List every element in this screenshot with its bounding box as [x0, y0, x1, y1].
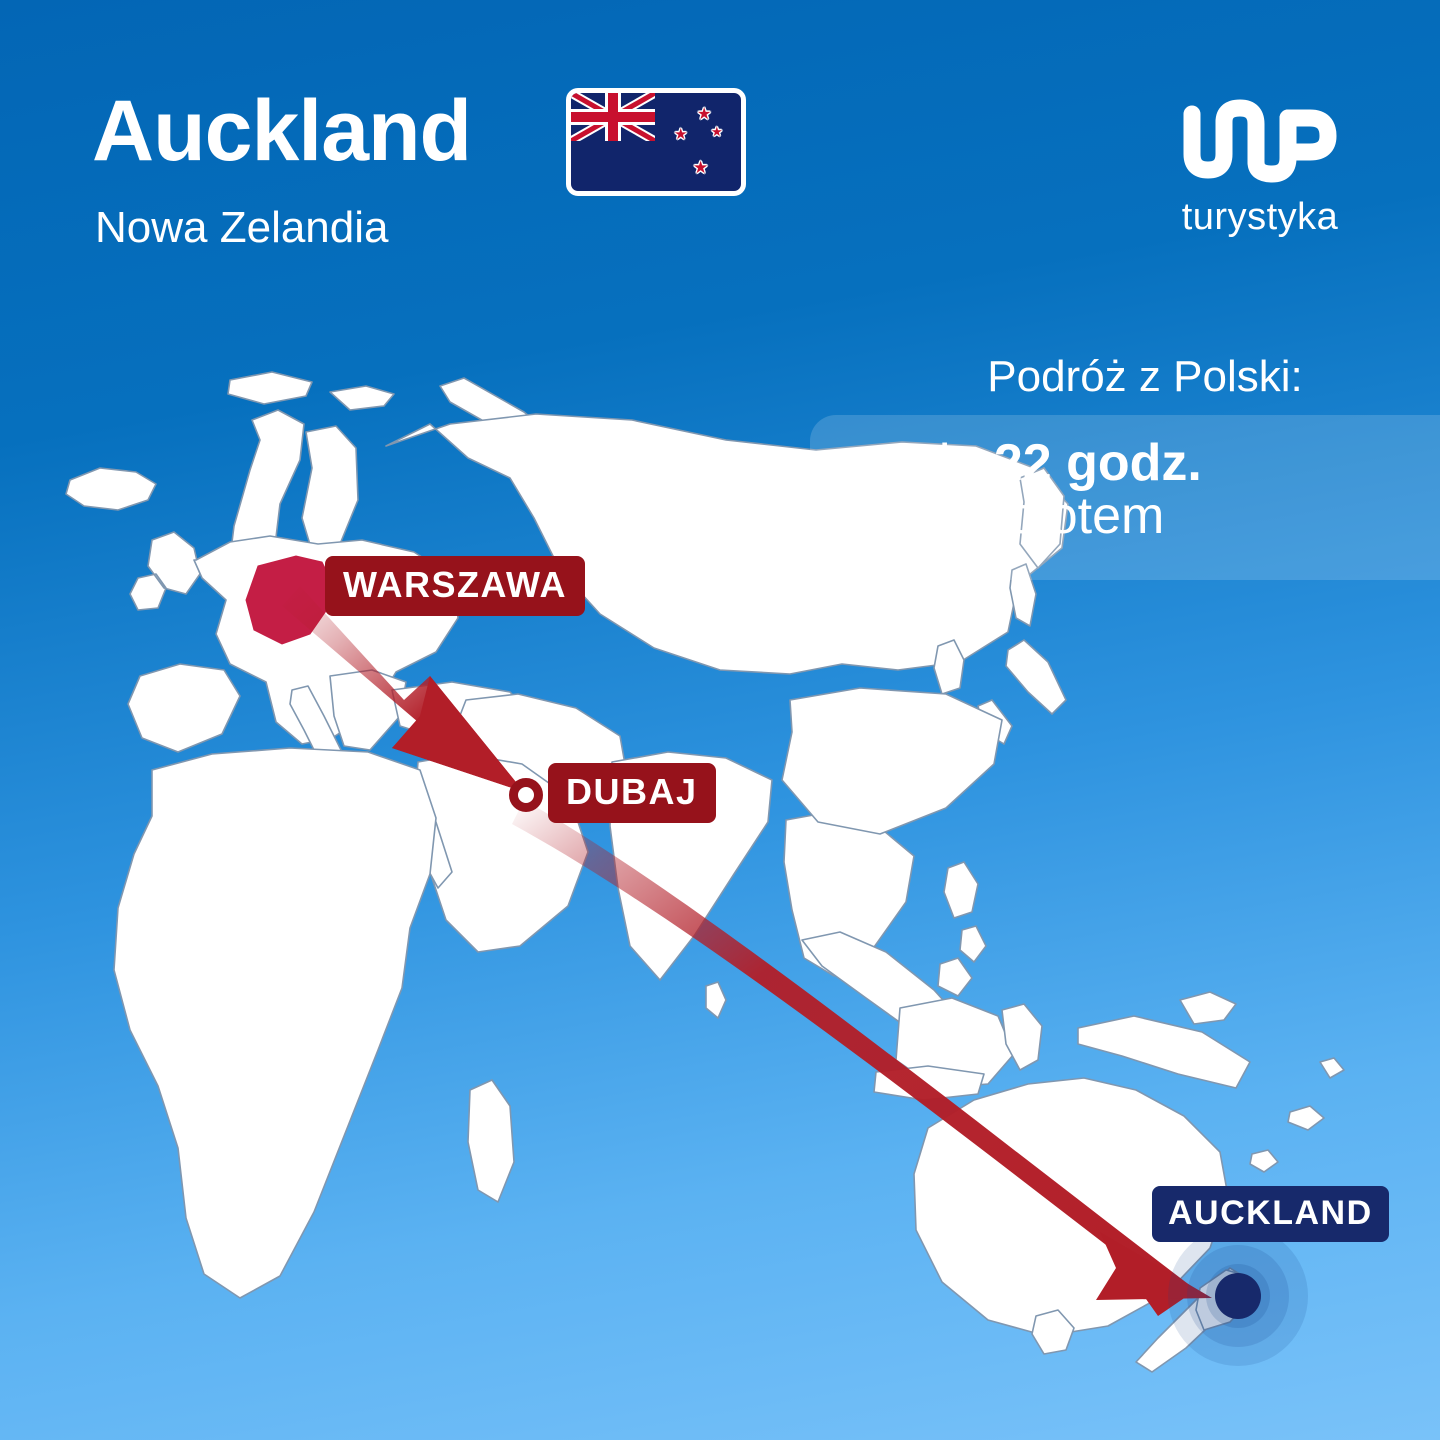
panel-text: ok. 22 godz. samolotem: [910, 437, 1440, 543]
southern-cross-star: ★: [693, 159, 708, 176]
southern-cross-star: ★: [697, 107, 711, 123]
logo-brand-text: turystyka: [1170, 196, 1350, 239]
page-title: Auckland: [92, 88, 471, 174]
wp-monogram-icon: [1170, 92, 1350, 192]
finland-baltics: [302, 426, 358, 558]
city-label-auckland[interactable]: AUCKLAND: [1152, 1186, 1389, 1242]
new-guinea: [1078, 1016, 1250, 1088]
dubaj-marker-icon[interactable]: [509, 778, 543, 812]
southern-cross-star: ★: [674, 127, 687, 142]
iceland: [66, 468, 156, 510]
china-southeast: [782, 688, 1002, 834]
wp-turystyka-logo[interactable]: turystyka: [1170, 92, 1350, 242]
iberia: [128, 664, 240, 752]
travel-info-panel: Podróż z Polski: ok. 22 godz. samolotem: [810, 355, 1440, 580]
pacific-islets: [1250, 1058, 1344, 1172]
british-isles: [130, 532, 200, 610]
travel-mode: samolotem: [910, 490, 1440, 543]
duration-value: 22 godz.: [994, 434, 1202, 492]
papua-islands: [1180, 992, 1236, 1024]
philippines: [938, 862, 986, 996]
panel-heading: Podróż z Polski:: [915, 355, 1375, 399]
city-label-dubaj[interactable]: DUBAJ: [548, 763, 716, 823]
airplane-icon: [840, 451, 914, 525]
svalbard: [228, 372, 394, 410]
route-arrows: [282, 586, 1212, 1316]
infographic-canvas: Auckland Nowa Zelandia ★ ★ ★ ★: [0, 0, 1440, 1440]
duration-prefix: ok.: [910, 434, 994, 492]
southern-cross-star: ★: [711, 125, 723, 138]
auckland-marker-icon[interactable]: [1168, 1226, 1308, 1366]
new-zealand-flag: ★ ★ ★ ★: [566, 88, 746, 196]
balkans-greece: [330, 670, 406, 750]
country-subtitle: Nowa Zelandia: [95, 206, 389, 250]
header: Auckland Nowa Zelandia ★ ★ ★ ★: [0, 0, 1440, 300]
africa: [114, 748, 436, 1298]
madagascar: [468, 1080, 514, 1202]
union-jack-canton: [571, 93, 655, 141]
sri-lanka: [706, 982, 726, 1018]
city-label-warszawa[interactable]: WARSZAWA: [325, 556, 585, 616]
